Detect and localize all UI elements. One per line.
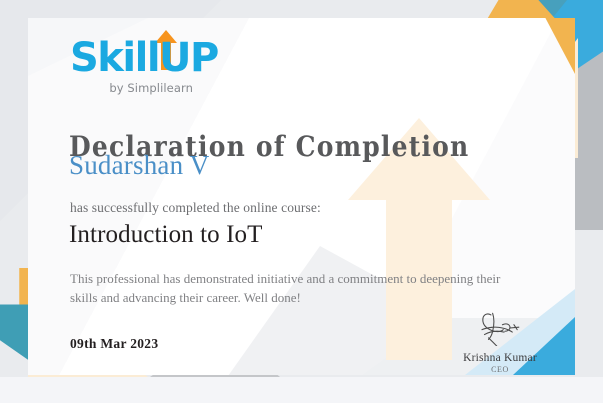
logo-text: SkillUP: [70, 35, 218, 81]
bottom-light-strip: [0, 377, 603, 403]
recipient-name: Sudarshan V: [69, 150, 209, 181]
skillup-logo: SkillUP by Simplilearn: [70, 36, 218, 95]
logo-tagline: by Simplilearn: [70, 81, 193, 95]
certificate-content: SkillUP by Simplilearn Declaration of Co…: [28, 18, 575, 375]
logo-text-skill: Skill: [70, 35, 159, 81]
course-title: Introduction to IoT: [69, 221, 263, 249]
logo-text-up: UP: [159, 35, 218, 81]
handwritten-signature-icon: [455, 310, 545, 346]
signer-name: Krishna Kumar: [440, 352, 560, 364]
signer-role: CEO: [440, 365, 560, 374]
issue-date: 09th Mar 2023: [70, 336, 158, 352]
certificate-page: SkillUP by Simplilearn Declaration of Co…: [0, 0, 603, 403]
course-lead-in-text: has successfully completed the online co…: [70, 200, 321, 216]
logo-mark: SkillUP: [70, 36, 218, 80]
achievement-blurb: This professional has demonstrated initi…: [70, 269, 502, 307]
signature-block: Krishna Kumar CEO: [440, 310, 560, 374]
